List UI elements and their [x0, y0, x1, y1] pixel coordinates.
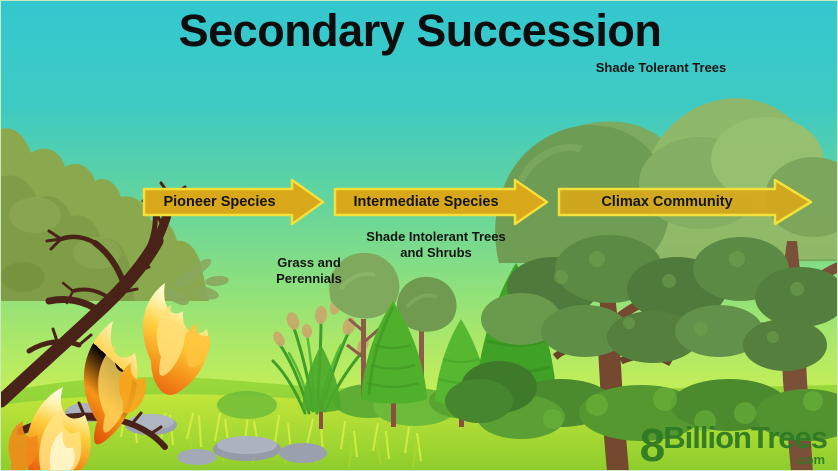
infographic-poster: Pioneer Species Intermediate Species Cli… — [0, 0, 838, 471]
fire-flames — [9, 283, 210, 471]
watermark-name: BillionTrees — [663, 423, 827, 453]
label-shade-tolerant-trees: Shade Tolerant Trees — [561, 60, 761, 76]
watermark-8-billion-trees: 8 BillionTrees .com — [640, 423, 827, 466]
watermark-text-column: BillionTrees .com — [663, 423, 827, 466]
label-shade-intolerant-line1: Shade Intolerant Trees — [346, 229, 526, 245]
label-shade-intolerant-trees-and-shrubs: Shade Intolerant Trees and Shrubs — [346, 229, 526, 261]
label-shade-intolerant-line2: and Shrubs — [346, 245, 526, 261]
label-grass-and-perennials: Grass and Perennials — [259, 255, 359, 287]
label-grass-line2: Perennials — [259, 271, 359, 287]
stage-arrow-intermediate[interactable]: Intermediate Species — [333, 177, 549, 227]
stage-arrow-pioneer[interactable]: Pioneer Species — [142, 177, 325, 227]
watermark-numeral: 8 — [640, 424, 664, 466]
label-grass-line1: Grass and — [259, 255, 359, 271]
watermark-tld: .com — [795, 454, 825, 466]
page-title: Secondary Succession — [1, 5, 838, 57]
stage-arrow-climax[interactable]: Climax Community — [557, 177, 813, 227]
